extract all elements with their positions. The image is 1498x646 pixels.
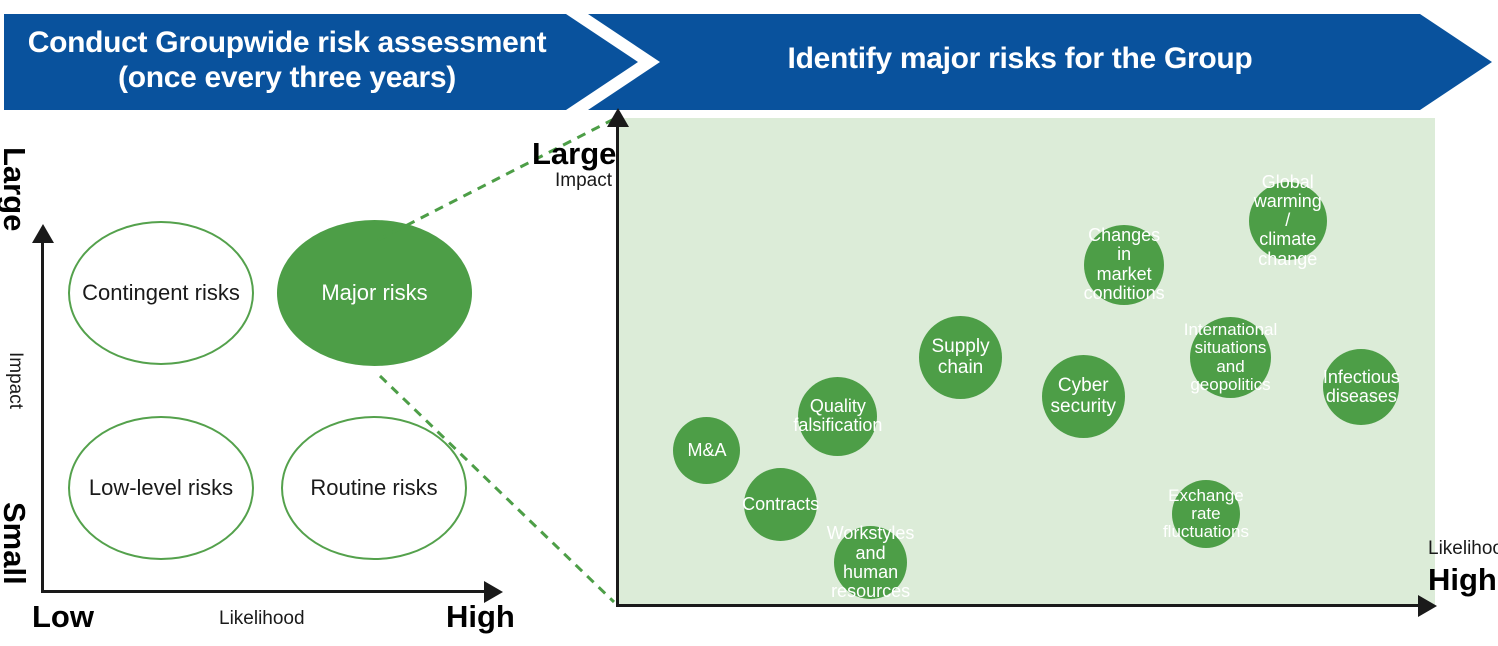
risk-bubble[interactable]: Infectious diseases (1323, 349, 1399, 425)
risk-bubble-label: Exchange rate fluctuations (1163, 487, 1249, 542)
risk-bubble[interactable]: Global warming / climate change (1249, 182, 1327, 260)
major-risks-bubble-chart: Large Impact Likelihood High M&AQuality … (600, 104, 1498, 646)
y-axis-name-label: Impact (4, 352, 26, 409)
risk-bubble-label: Cyber security (1042, 376, 1125, 417)
quadrant-label: Routine risks (310, 475, 437, 501)
risk-bubble-label: Supply chain (919, 337, 1002, 378)
y-axis-line (41, 242, 44, 592)
quadrant-routine-risks[interactable]: Routine risks (281, 416, 467, 560)
risk-bubble-label: Quality falsification (793, 397, 882, 436)
risk-bubble-label: Contracts (742, 495, 819, 514)
risk-bubble-label: Workstyles and human resources (827, 524, 915, 601)
quadrant-low-level-risks[interactable]: Low-level risks (68, 416, 254, 560)
risk-bubble[interactable]: Quality falsification (798, 377, 877, 456)
banner-right-label: Identify major risks for the Group (620, 42, 1420, 77)
quadrant-label: Major risks (321, 280, 427, 306)
risk-bubble-label: Changes in market conditions (1084, 226, 1165, 303)
quadrant-label: Contingent risks (82, 280, 240, 306)
risk-bubble-label: International situations and geopolitics (1184, 321, 1278, 394)
x-axis-high-label: High (446, 599, 515, 635)
x-axis-name-label: Likelihood (219, 608, 305, 630)
risk-bubble[interactable]: Supply chain (919, 316, 1002, 399)
risk-assessment-diagram: Conduct Groupwide risk assessment (once … (0, 0, 1498, 646)
risk-bubble[interactable]: International situations and geopolitics (1190, 317, 1271, 398)
y-axis-high-label: Large (0, 147, 32, 231)
quadrant-contingent-risks[interactable]: Contingent risks (68, 221, 254, 365)
x-axis-low-label: Low (32, 599, 94, 635)
risk-bubble-label: M&A (673, 441, 740, 460)
risk-bubble[interactable]: M&A (673, 417, 740, 484)
risk-bubble[interactable]: Workstyles and human resources (834, 526, 907, 599)
quadrant-label: Low-level risks (89, 475, 233, 501)
risk-bubble[interactable]: Contracts (744, 468, 817, 541)
risk-bubble-label: Infectious diseases (1323, 368, 1400, 407)
bubble-layer: M&AQuality falsificationContractsWorksty… (600, 104, 1498, 646)
y-axis-low-label: Small (0, 502, 32, 585)
risk-matrix-chart: Large Impact Small Contingent risks Majo… (0, 112, 560, 646)
y-axis-arrow-icon (32, 224, 54, 243)
process-banner: Conduct Groupwide risk assessment (once … (0, 0, 1498, 112)
risk-bubble-label: Global warming / climate change (1249, 173, 1327, 269)
risk-bubble[interactable]: Changes in market conditions (1084, 225, 1164, 305)
risk-bubble[interactable]: Exchange rate fluctuations (1172, 480, 1240, 548)
quadrant-major-risks[interactable]: Major risks (277, 220, 472, 366)
banner-left-label: Conduct Groupwide risk assessment (once … (8, 26, 566, 95)
risk-bubble[interactable]: Cyber security (1042, 355, 1125, 438)
x-axis-line (41, 590, 486, 593)
